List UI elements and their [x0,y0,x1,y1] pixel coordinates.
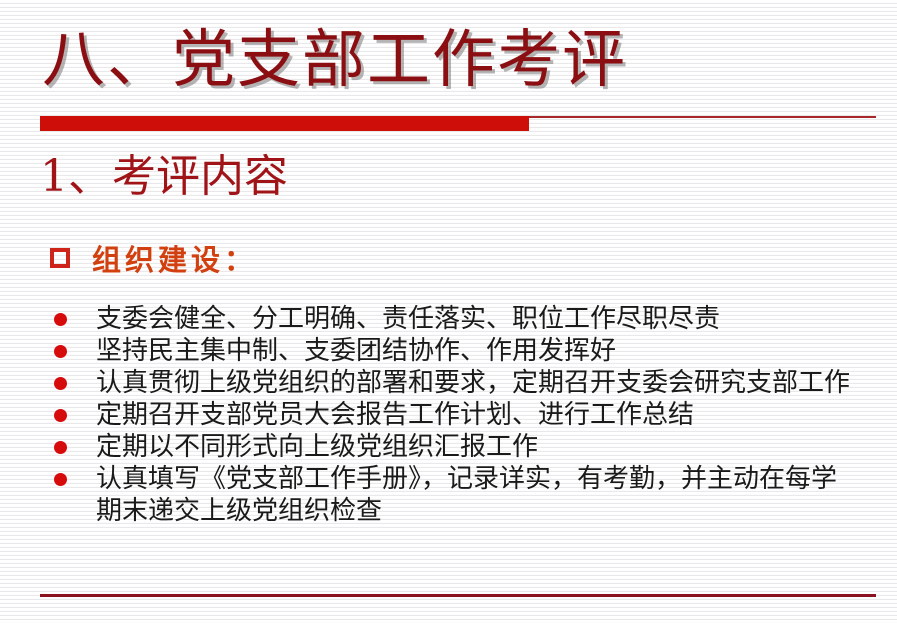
list-item-text: 认真填写《党支部工作手册》，记录详实，有考勤，并主动在每学期末递交上级党组织检查 [96,464,837,526]
list-item: 定期召开支部党员大会报告工作计划、进行工作总结 [52,399,852,431]
title-divider-thick-bar [40,116,529,131]
slide-canvas: 八、党支部工作考评 1、考评内容 组织建设： 支委会健全、分工明确、责任落实、职… [0,0,897,623]
list-item: 坚持民主集中制、支委团结协作、作用发挥好 [52,335,852,367]
section-heading: 1、考评内容 [40,148,288,206]
list-item: 认真填写《党支部工作手册》，记录详实，有考勤，并主动在每学期末递交上级党组织检查 [52,463,852,527]
slide-title-block: 八、党支部工作考评 [42,14,862,106]
list-item-text: 定期召开支部党员大会报告工作计划、进行工作总结 [96,400,694,430]
bullet-dot-icon [54,377,67,390]
bullet-list: 支委会健全、分工明确、责任落实、职位工作尽职尽责 坚持民主集中制、支委团结协作、… [52,303,852,527]
list-item: 定期以不同形式向上级党组织汇报工作 [52,431,852,463]
bottom-divider-rule [40,594,876,597]
list-item: 认真贯彻上级党组织的部署和要求，定期召开支委会研究支部工作 [52,367,852,399]
list-item: 支委会健全、分工明确、责任落实、职位工作尽职尽责 [52,303,852,335]
bullet-dot-icon [54,313,67,326]
list-item-text: 定期以不同形式向上级党组织汇报工作 [96,432,538,462]
bullet-dot-icon [54,345,67,358]
list-item-text: 支委会健全、分工明确、责任落实、职位工作尽职尽责 [96,304,720,334]
list-item-text: 坚持民主集中制、支委团结协作、作用发挥好 [96,336,616,366]
hollow-square-bullet-icon [50,248,70,268]
bullet-dot-icon [54,473,67,486]
bullet-dot-icon [54,441,67,454]
page-title: 八、党支部工作考评 [42,14,862,106]
sub-heading-label: 组织建设： [92,237,257,279]
list-item-text: 认真贯彻上级党组织的部署和要求，定期召开支委会研究支部工作 [96,368,850,398]
sub-heading-row: 组织建设： [50,238,257,278]
bullet-dot-icon [54,409,67,422]
